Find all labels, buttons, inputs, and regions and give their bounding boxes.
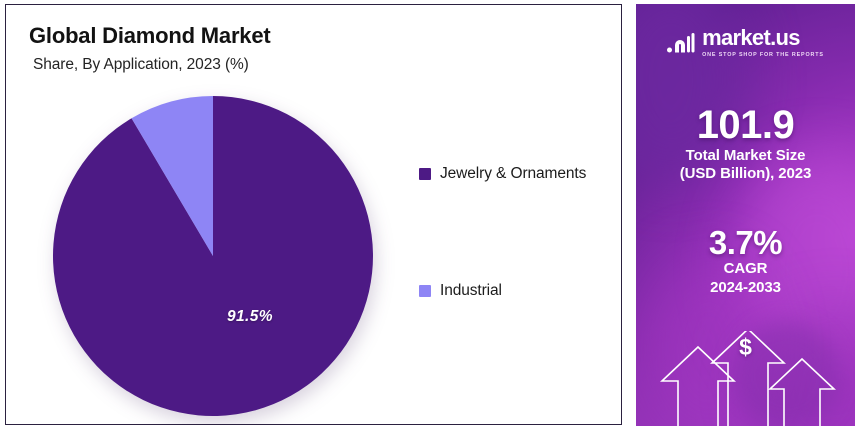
up-arrows-icon	[636, 331, 855, 426]
brand-logo[interactable]: market.us ONE STOP SHOP FOR THE REPORTS	[636, 27, 855, 58]
stat-label-line-1: CAGR	[636, 260, 855, 279]
legend-item-industrial[interactable]: Industrial	[419, 282, 619, 300]
stat-value: 101.9	[636, 105, 855, 147]
legend-swatch-icon	[419, 168, 431, 180]
stat-label-line-2: 2024-2033	[636, 279, 855, 298]
brand-name: market.us	[702, 27, 800, 49]
page-title: Global Diamond Market	[29, 23, 271, 49]
chart-card: Global Diamond Market Share, By Applicat…	[5, 4, 622, 425]
pie-chart: 91.5%	[48, 91, 378, 421]
chart-subtitle: Share, By Application, 2023 (%)	[33, 56, 249, 74]
pie-slice-value-label: 91.5%	[190, 308, 310, 326]
stat-label-line-1: Total Market Size	[636, 147, 855, 166]
brand-tagline: ONE STOP SHOP FOR THE REPORTS	[702, 52, 824, 58]
legend-label: Industrial	[440, 282, 502, 300]
stat-label-line-2: (USD Billion), 2023	[636, 165, 855, 184]
legend-item-jewelry-ornaments[interactable]: Jewelry & Ornaments	[419, 165, 619, 183]
bar-chart-logo-icon	[667, 31, 695, 55]
market-report-infographic: Global Diamond Market Share, By Applicat…	[0, 0, 855, 430]
legend: Jewelry & Ornaments Industrial	[419, 165, 619, 300]
stat-value: 3.7%	[636, 226, 855, 260]
stat-cagr: 3.7% CAGR 2024-2033	[636, 226, 855, 298]
pie-svg	[48, 91, 378, 421]
stat-total-market-size: 101.9 Total Market Size (USD Billion), 2…	[636, 105, 855, 184]
legend-label: Jewelry & Ornaments	[440, 165, 586, 183]
brand-summary-panel: market.us ONE STOP SHOP FOR THE REPORTS …	[636, 4, 855, 426]
legend-swatch-icon	[419, 285, 431, 297]
